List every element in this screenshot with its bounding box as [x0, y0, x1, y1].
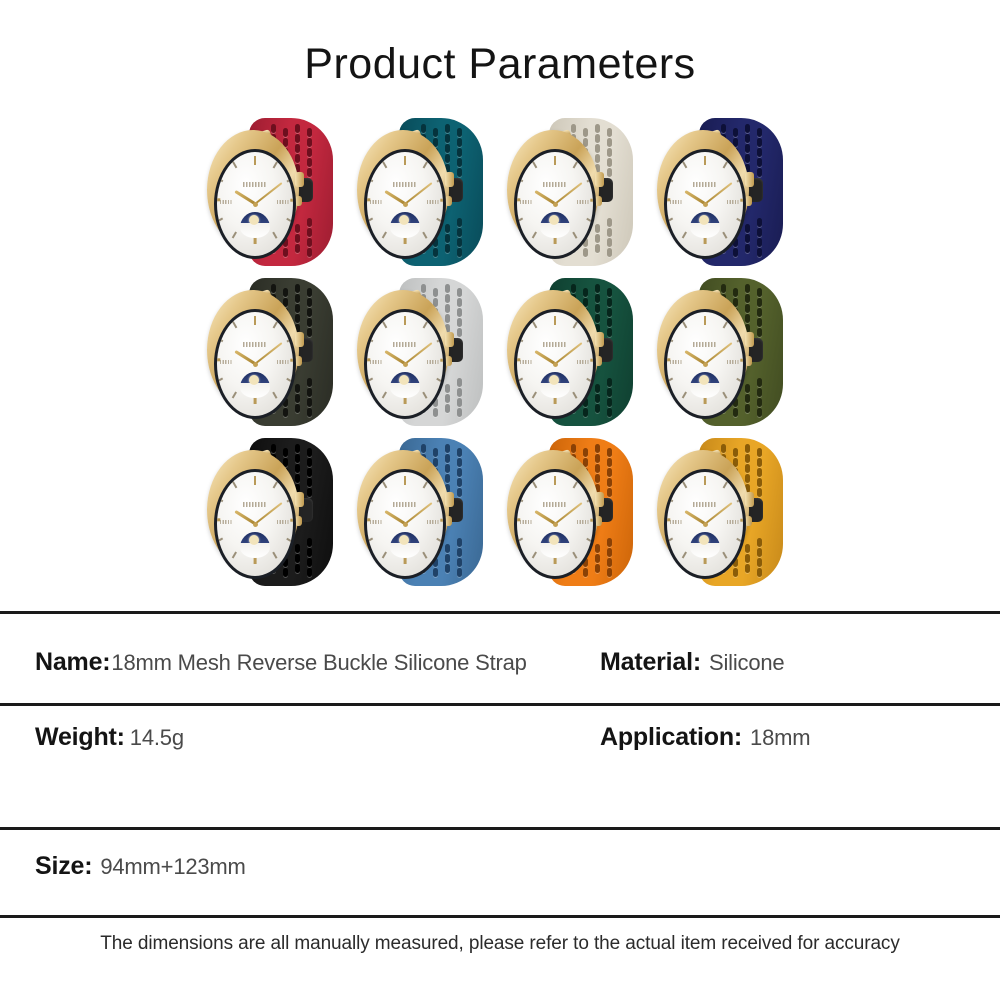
- center-pin: [553, 202, 558, 207]
- center-pin: [403, 202, 408, 207]
- hour-marker: [532, 161, 537, 168]
- moon-phase-subdial: [390, 372, 420, 398]
- hour-marker: [254, 156, 257, 165]
- dial-side-text: [427, 200, 440, 204]
- watch-crown: [745, 332, 754, 347]
- spec-weight-label: Weight:: [35, 723, 125, 752]
- hour-marker: [532, 232, 537, 239]
- hour-marker: [682, 321, 687, 328]
- dial-brand-text: [543, 342, 567, 347]
- watch-pusher: [295, 356, 302, 366]
- measurement-disclaimer: The dimensions are all manually measured…: [0, 933, 1000, 955]
- watch-navy: [655, 112, 795, 272]
- hour-marker: [532, 552, 537, 559]
- center-pin: [553, 522, 558, 527]
- spec-material: Material: Silicone: [600, 648, 784, 677]
- hour-marker: [517, 218, 523, 223]
- watch-case: [357, 130, 449, 250]
- hour-marker: [273, 321, 278, 328]
- watch-pusher: [745, 196, 752, 206]
- dial-brand-text: [243, 182, 267, 187]
- watch-light-gray: [355, 272, 495, 432]
- moon-disc: [399, 375, 409, 385]
- spec-application-label: Application:: [600, 723, 742, 752]
- spec-application: Application: 18mm: [600, 723, 810, 752]
- watch-red: [205, 112, 345, 272]
- divider-4: [0, 915, 1000, 918]
- moon-disc: [699, 375, 709, 385]
- moon-phase-subdial: [540, 532, 570, 558]
- hour-marker: [423, 481, 428, 488]
- watch-product-image: [505, 436, 645, 588]
- hour-marker: [404, 156, 407, 165]
- center-pin: [703, 522, 708, 527]
- moon-disc: [249, 375, 259, 385]
- hour-marker: [382, 552, 387, 559]
- hour-marker: [740, 359, 743, 362]
- divider-3: [0, 827, 1000, 830]
- moon-phase-subdial: [540, 372, 570, 398]
- center-pin: [403, 362, 408, 367]
- watch-crown: [745, 172, 754, 187]
- spec-material-label: Material:: [600, 648, 701, 677]
- hour-marker: [532, 321, 537, 328]
- watch-black: [205, 432, 345, 592]
- hour-marker: [682, 232, 687, 239]
- watch-crown: [445, 172, 454, 187]
- hour-marker: [590, 519, 593, 522]
- watch-product-image: [355, 276, 495, 428]
- moon-phase-subdial: [690, 212, 720, 238]
- hour-marker: [517, 538, 523, 543]
- watch-crown: [595, 332, 604, 347]
- hour-marker: [723, 232, 728, 239]
- product-parameters-page: Product Parameters Name: 18mm Mesh Rever…: [0, 0, 1000, 1000]
- moon-disc: [699, 535, 709, 545]
- hour-marker: [723, 161, 728, 168]
- watch-orange: [505, 432, 645, 592]
- center-pin: [553, 362, 558, 367]
- hour-marker: [704, 316, 707, 325]
- dial-brand-text: [243, 342, 267, 347]
- watch-dial: [217, 472, 293, 576]
- dial-brand-text: [693, 182, 717, 187]
- dial-side-text: [520, 520, 533, 524]
- moon-disc: [699, 215, 709, 225]
- hour-marker: [573, 481, 578, 488]
- hour-marker: [382, 481, 387, 488]
- hour-marker: [740, 519, 743, 522]
- hour-marker: [232, 392, 237, 399]
- dial-side-text: [220, 200, 233, 204]
- center-pin: [403, 522, 408, 527]
- hour-marker: [273, 481, 278, 488]
- moon-disc: [549, 535, 559, 545]
- hour-marker: [423, 161, 428, 168]
- dial-brand-text: [543, 502, 567, 507]
- watch-beige: [505, 112, 645, 272]
- watch-case: [357, 450, 449, 570]
- watch-row: [205, 272, 795, 432]
- dial-side-text: [277, 520, 290, 524]
- moon-phase-subdial: [690, 532, 720, 558]
- watch-case: [507, 130, 599, 250]
- dial-brand-text: [543, 182, 567, 187]
- hour-marker: [382, 232, 387, 239]
- watch-case: [357, 290, 449, 410]
- watch-dial: [667, 152, 743, 256]
- watch-case: [207, 450, 299, 570]
- moon-disc: [549, 215, 559, 225]
- watch-steel-blue: [355, 432, 495, 592]
- dial-side-text: [727, 520, 740, 524]
- watch-crown: [445, 492, 454, 507]
- watch-dial: [517, 312, 593, 416]
- hour-marker: [273, 161, 278, 168]
- hour-marker: [232, 481, 237, 488]
- hour-marker: [423, 232, 428, 239]
- watch-crown: [295, 492, 304, 507]
- watch-dial: [367, 472, 443, 576]
- hour-marker: [723, 392, 728, 399]
- watch-crown: [595, 172, 604, 187]
- dial-brand-text: [693, 342, 717, 347]
- spec-size-label: Size:: [35, 852, 92, 881]
- hour-marker: [667, 538, 673, 543]
- watch-pusher: [595, 516, 602, 526]
- dial-side-text: [370, 520, 383, 524]
- center-pin: [253, 202, 258, 207]
- watch-dark-olive: [205, 272, 345, 432]
- watch-crown: [595, 492, 604, 507]
- hour-marker: [667, 378, 673, 383]
- hour-marker: [382, 392, 387, 399]
- spec-name-value: 18mm Mesh Reverse Buckle Silicone Strap: [111, 650, 526, 676]
- moon-phase-subdial: [240, 372, 270, 398]
- dial-side-text: [427, 360, 440, 364]
- watch-dial: [517, 152, 593, 256]
- watch-pusher: [445, 356, 452, 366]
- hour-marker: [554, 156, 557, 165]
- watch-dark-green: [505, 272, 645, 432]
- hour-marker: [254, 476, 257, 485]
- page-title: Product Parameters: [0, 40, 1000, 89]
- dial-side-text: [670, 360, 683, 364]
- hour-marker: [723, 321, 728, 328]
- hour-marker: [590, 199, 593, 202]
- hour-marker: [367, 218, 373, 223]
- spec-weight-value: 14.5g: [130, 725, 184, 751]
- hour-marker: [667, 218, 673, 223]
- hour-marker: [573, 552, 578, 559]
- hour-marker: [382, 321, 387, 328]
- watch-product-image: [355, 436, 495, 588]
- moon-disc: [249, 215, 259, 225]
- watch-dial: [517, 472, 593, 576]
- dial-brand-text: [393, 182, 417, 187]
- hour-marker: [423, 392, 428, 399]
- dial-side-text: [220, 360, 233, 364]
- watch-product-image: [655, 276, 795, 428]
- watch-product-image: [655, 436, 795, 588]
- hour-marker: [704, 156, 707, 165]
- watch-product-image: [655, 116, 795, 268]
- hour-marker: [290, 359, 293, 362]
- divider-2: [0, 703, 1000, 706]
- dial-side-text: [277, 360, 290, 364]
- watch-dial: [667, 312, 743, 416]
- moon-disc: [249, 535, 259, 545]
- hour-marker: [704, 476, 707, 485]
- hour-marker: [554, 316, 557, 325]
- spec-name: Name: 18mm Mesh Reverse Buckle Silicone …: [35, 648, 527, 677]
- dial-side-text: [520, 200, 533, 204]
- watch-row: [205, 432, 795, 592]
- hour-marker: [740, 199, 743, 202]
- hour-marker: [217, 218, 223, 223]
- watch-pusher: [295, 516, 302, 526]
- spec-size: Size: 94mm+123mm: [35, 852, 246, 881]
- spec-material-value: Silicone: [709, 650, 784, 676]
- hour-marker: [573, 321, 578, 328]
- center-pin: [253, 362, 258, 367]
- watch-pusher: [745, 516, 752, 526]
- dial-brand-text: [243, 502, 267, 507]
- spec-application-value: 18mm: [750, 725, 810, 751]
- dial-side-text: [577, 360, 590, 364]
- hour-marker: [554, 476, 557, 485]
- hour-marker: [573, 392, 578, 399]
- center-pin: [253, 522, 258, 527]
- watch-dial: [667, 472, 743, 576]
- watch-dial: [367, 152, 443, 256]
- watch-crown: [295, 332, 304, 347]
- hour-marker: [273, 552, 278, 559]
- moon-disc: [549, 375, 559, 385]
- hour-marker: [682, 552, 687, 559]
- watch-case: [657, 130, 749, 250]
- watch-pusher: [295, 196, 302, 206]
- hour-marker: [440, 519, 443, 522]
- watch-color-gallery: [205, 112, 795, 592]
- hour-marker: [232, 232, 237, 239]
- hour-marker: [232, 321, 237, 328]
- hour-marker: [517, 378, 523, 383]
- moon-phase-subdial: [240, 212, 270, 238]
- watch-dial: [217, 152, 293, 256]
- divider-1: [0, 611, 1000, 614]
- hour-marker: [440, 199, 443, 202]
- moon-phase-subdial: [240, 532, 270, 558]
- watch-case: [207, 130, 299, 250]
- dial-side-text: [277, 200, 290, 204]
- hour-marker: [367, 538, 373, 543]
- hour-marker: [217, 538, 223, 543]
- dial-brand-text: [693, 502, 717, 507]
- dial-side-text: [670, 200, 683, 204]
- watch-gold-yellow: [655, 432, 795, 592]
- dial-side-text: [577, 520, 590, 524]
- dial-side-text: [727, 200, 740, 204]
- hour-marker: [232, 552, 237, 559]
- watch-case: [507, 290, 599, 410]
- watch-product-image: [355, 116, 495, 268]
- hour-marker: [254, 316, 257, 325]
- dial-side-text: [220, 520, 233, 524]
- watch-product-image: [205, 436, 345, 588]
- watch-pusher: [595, 196, 602, 206]
- moon-phase-subdial: [540, 212, 570, 238]
- hour-marker: [273, 392, 278, 399]
- hour-marker: [440, 359, 443, 362]
- dial-side-text: [370, 200, 383, 204]
- moon-disc: [399, 215, 409, 225]
- hour-marker: [682, 481, 687, 488]
- dial-side-text: [670, 520, 683, 524]
- hour-marker: [423, 552, 428, 559]
- watch-product-image: [505, 116, 645, 268]
- watch-dial: [217, 312, 293, 416]
- watch-case: [507, 450, 599, 570]
- hour-marker: [217, 378, 223, 383]
- hour-marker: [423, 321, 428, 328]
- moon-phase-subdial: [690, 372, 720, 398]
- watch-crown: [445, 332, 454, 347]
- watch-pusher: [595, 356, 602, 366]
- hour-marker: [682, 392, 687, 399]
- watch-case: [657, 290, 749, 410]
- watch-row: [205, 112, 795, 272]
- hour-marker: [290, 519, 293, 522]
- moon-disc: [399, 535, 409, 545]
- dial-side-text: [577, 200, 590, 204]
- hour-marker: [723, 552, 728, 559]
- center-pin: [703, 202, 708, 207]
- dial-side-text: [370, 360, 383, 364]
- watch-product-image: [205, 116, 345, 268]
- hour-marker: [532, 481, 537, 488]
- hour-marker: [573, 232, 578, 239]
- dial-brand-text: [393, 342, 417, 347]
- watch-case: [657, 450, 749, 570]
- hour-marker: [573, 161, 578, 168]
- hour-marker: [404, 316, 407, 325]
- watch-teal: [355, 112, 495, 272]
- moon-phase-subdial: [390, 212, 420, 238]
- hour-marker: [682, 161, 687, 168]
- hour-marker: [290, 199, 293, 202]
- watch-crown: [295, 172, 304, 187]
- hour-marker: [367, 378, 373, 383]
- hour-marker: [532, 392, 537, 399]
- watch-product-image: [505, 276, 645, 428]
- watch-product-image: [205, 276, 345, 428]
- watch-army-green: [655, 272, 795, 432]
- hour-marker: [382, 161, 387, 168]
- watch-pusher: [445, 196, 452, 206]
- dial-side-text: [520, 360, 533, 364]
- center-pin: [703, 362, 708, 367]
- spec-name-label: Name:: [35, 648, 110, 677]
- watch-pusher: [445, 516, 452, 526]
- hour-marker: [232, 161, 237, 168]
- dial-brand-text: [393, 502, 417, 507]
- watch-pusher: [745, 356, 752, 366]
- watch-dial: [367, 312, 443, 416]
- dial-side-text: [727, 360, 740, 364]
- hour-marker: [273, 232, 278, 239]
- hour-marker: [723, 481, 728, 488]
- hour-marker: [590, 359, 593, 362]
- spec-weight: Weight: 14.5g: [35, 723, 184, 752]
- hour-marker: [404, 476, 407, 485]
- watch-case: [207, 290, 299, 410]
- watch-crown: [745, 492, 754, 507]
- dial-side-text: [427, 520, 440, 524]
- spec-size-value: 94mm+123mm: [100, 854, 245, 880]
- moon-phase-subdial: [390, 532, 420, 558]
